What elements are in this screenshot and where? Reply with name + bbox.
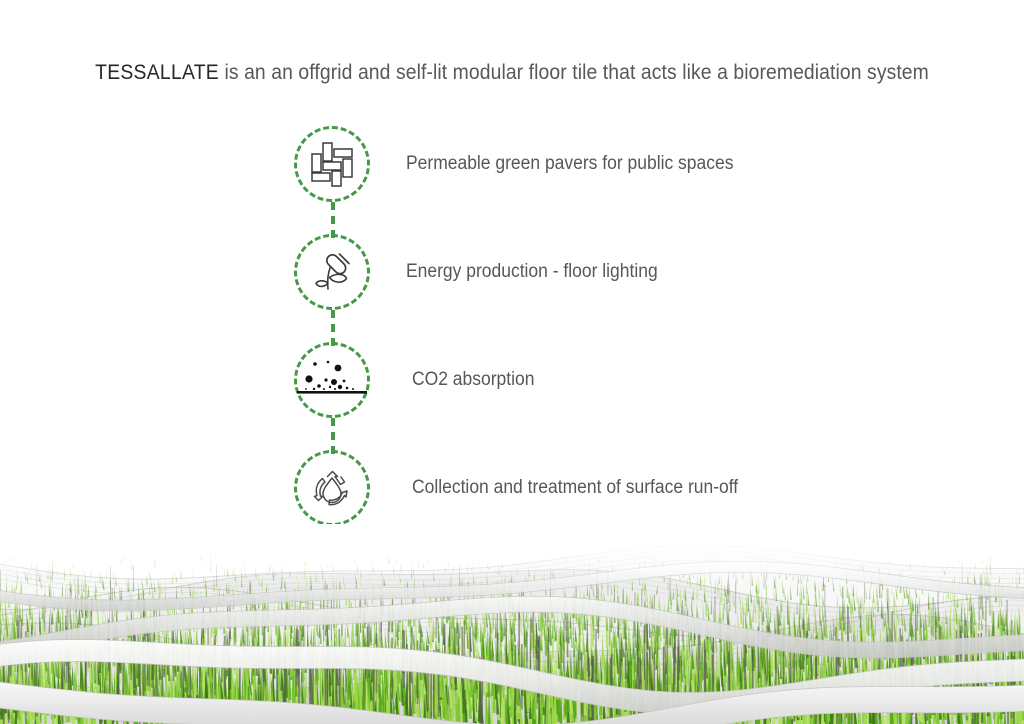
feature-node-runoff[interactable] <box>294 450 370 526</box>
landscape-rendering <box>0 524 1024 724</box>
paver-pattern-icon <box>308 140 356 188</box>
page-title: TESSALLATE is an an offgrid and self-lit… <box>51 58 973 86</box>
co2-particles-icon <box>297 355 367 405</box>
landscape-rendering-svg <box>0 524 1024 724</box>
water-recycle-icon <box>308 464 356 512</box>
feature-label-runoff: Collection and treatment of surface run-… <box>412 476 738 500</box>
poster-canvas: TESSALLATE is an an offgrid and self-lit… <box>0 0 1024 724</box>
feature-node-co2[interactable] <box>294 342 370 418</box>
feature-node-energy[interactable] <box>294 234 370 310</box>
rail-connector-1 <box>331 202 335 238</box>
feature-label-co2: CO2 absorption <box>412 368 534 392</box>
rail-connector-3 <box>331 418 335 454</box>
feature-label-pavers: Permeable green pavers for public spaces <box>406 152 733 176</box>
brand-name: TESSALLATE <box>95 60 219 84</box>
plug-plant-icon <box>309 249 355 295</box>
headline-rest: is an an offgrid and self-lit modular fl… <box>219 60 929 84</box>
feature-label-energy: Energy production - floor lighting <box>406 260 658 284</box>
rail-connector-2 <box>331 310 335 346</box>
feature-rail <box>294 126 372 540</box>
feature-node-pavers[interactable] <box>294 126 370 202</box>
